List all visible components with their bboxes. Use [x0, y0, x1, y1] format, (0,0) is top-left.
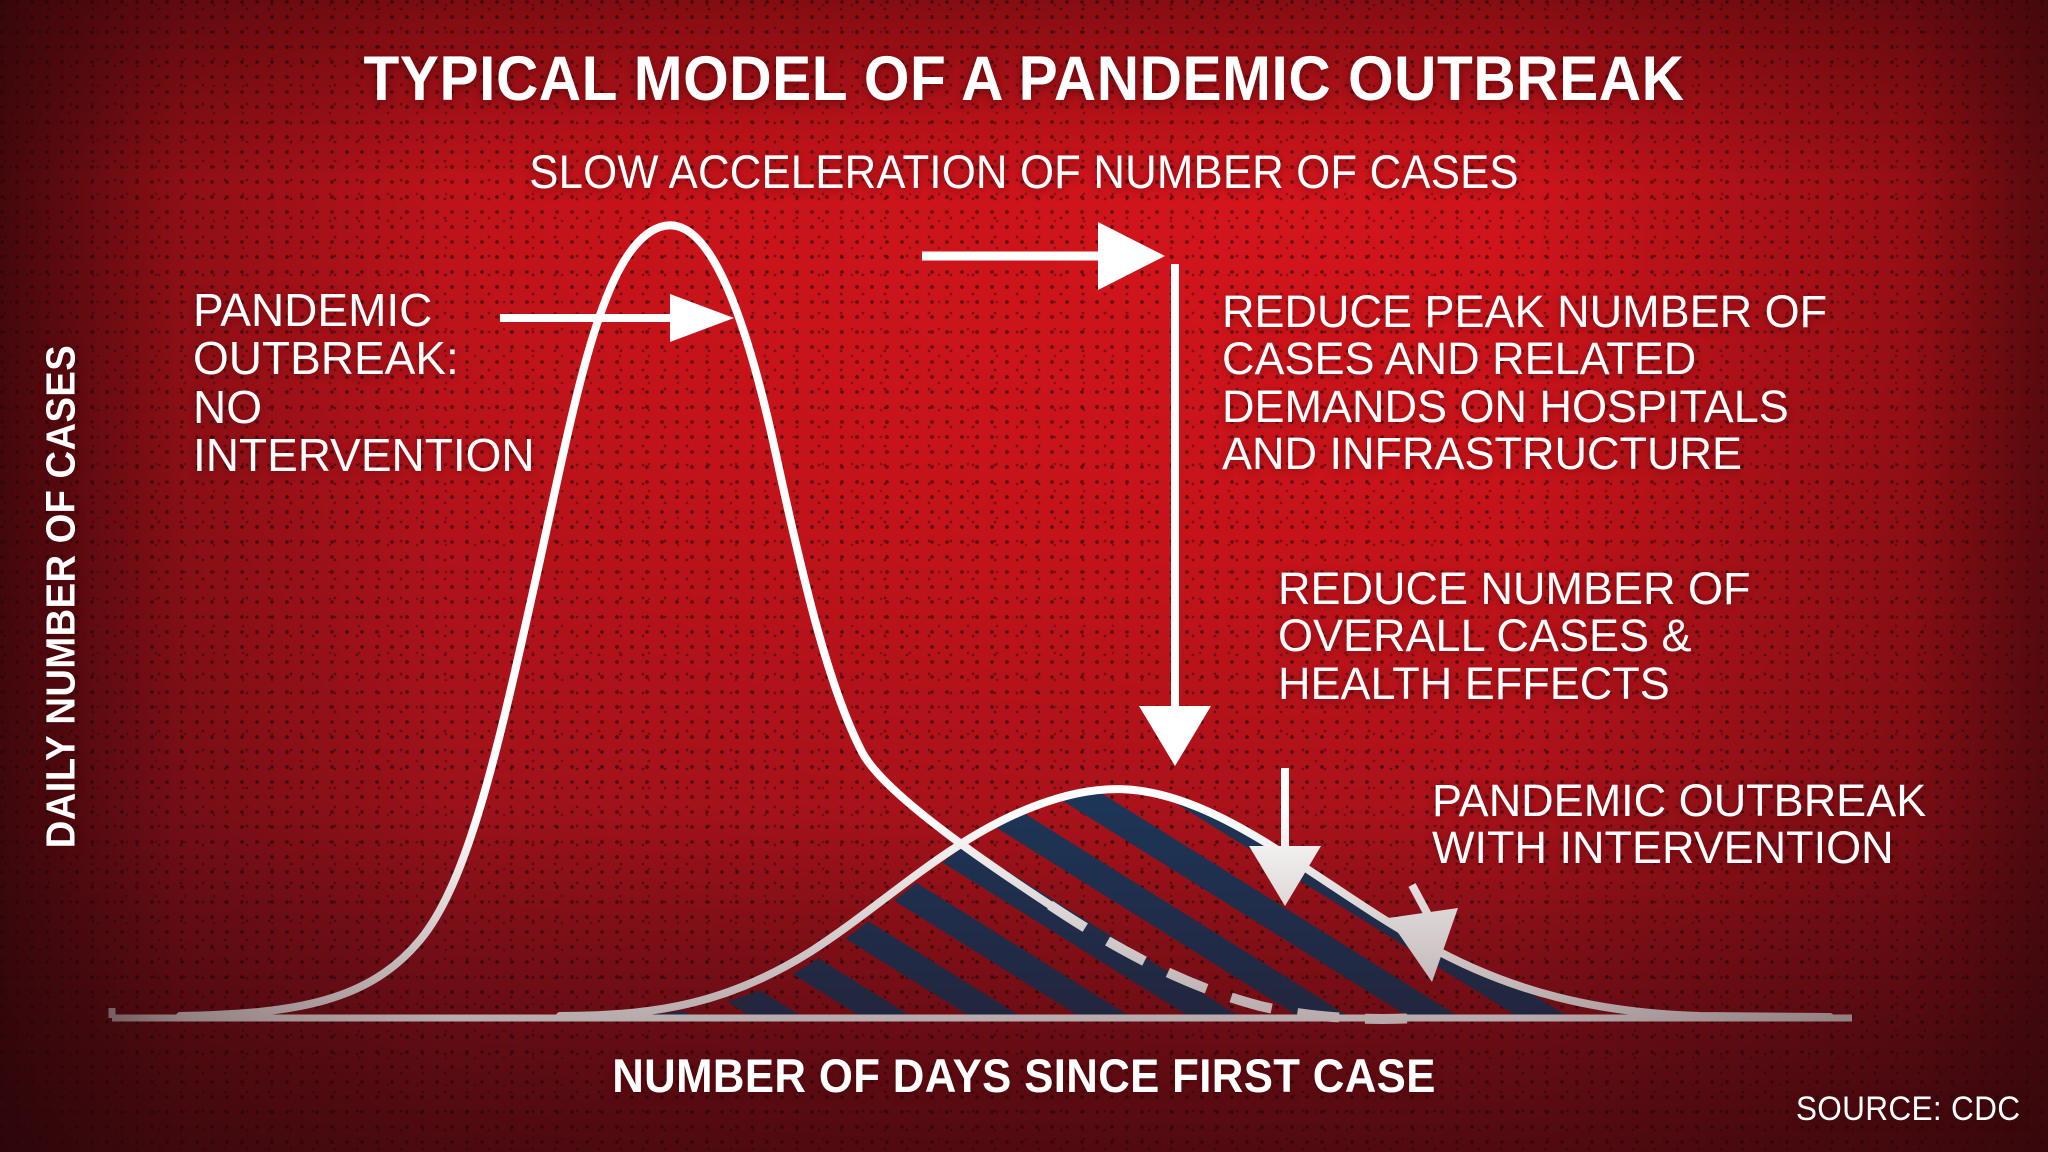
annotation-line: REDUCE NUMBER OF: [1278, 565, 1751, 612]
source-credit: SOURCE: CDC: [1796, 1092, 2020, 1126]
arrow-reduce-peak: [1139, 264, 1211, 766]
arrow-no-intervention: [500, 294, 734, 342]
annotation-line: HEALTH EFFECTS: [1278, 660, 1751, 707]
annotation-line: PANDEMIC: [193, 286, 535, 334]
x-axis-label: NUMBER OF DAYS SINCE FIRST CASE: [72, 1052, 1977, 1099]
page-subtitle: SLOW ACCELERATION OF NUMBER OF CASES: [72, 148, 1977, 195]
annotation-line: WITH INTERVENTION: [1432, 824, 1926, 871]
page-title: TYPICAL MODEL OF A PANDEMIC OUTBREAK: [72, 48, 1977, 111]
annotation-reduce-peak: REDUCE PEAK NUMBER OF CASES AND RELATED …: [1222, 288, 1827, 477]
infographic-canvas: TYPICAL MODEL OF A PANDEMIC OUTBREAK SLO…: [0, 0, 2048, 1152]
annotation-line: CASES AND RELATED: [1222, 335, 1827, 382]
annotation-line: INTERVENTION: [193, 431, 535, 479]
annotation-no-intervention: PANDEMIC OUTBREAK: NO INTERVENTION: [193, 286, 535, 479]
annotation-line: OUTBREAK:: [193, 334, 535, 382]
annotation-line: NO: [193, 383, 535, 431]
arrow-slow-acceleration: [922, 222, 1165, 290]
annotation-reduce-overall: REDUCE NUMBER OF OVERALL CASES & HEALTH …: [1278, 565, 1751, 707]
annotation-line: PANDEMIC OUTBREAK: [1432, 777, 1926, 824]
annotation-line: DEMANDS ON HOSPITALS: [1222, 383, 1827, 430]
annotation-line: OVERALL CASES &: [1278, 612, 1751, 659]
annotation-with-intervention: PANDEMIC OUTBREAK WITH INTERVENTION: [1432, 777, 1926, 872]
annotation-line: REDUCE PEAK NUMBER OF: [1222, 288, 1827, 335]
y-axis-label: DAILY NUMBER OF CASES: [41, 271, 82, 922]
annotation-line: AND INFRASTRUCTURE: [1222, 430, 1827, 477]
